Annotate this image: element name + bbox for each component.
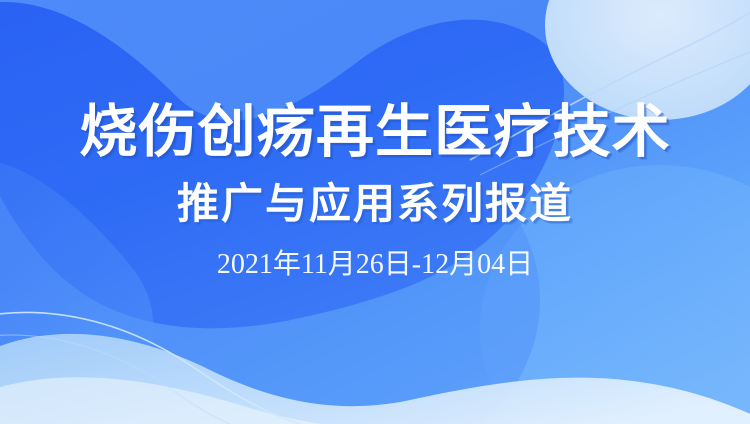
date-range-label: 2021年11月26日-12月04日 — [217, 251, 533, 279]
banner-content: 烧伤创疡再生医疗技术 推广与应用系列报道 2021年11月26日-12月04日 — [0, 0, 750, 424]
page-title: 烧伤创疡再生医疗技术 — [79, 104, 671, 161]
promo-banner: 烧伤创疡再生医疗技术 推广与应用系列报道 2021年11月26日-12月04日 — [0, 0, 750, 424]
page-subtitle: 推广与应用系列报道 — [177, 183, 573, 225]
